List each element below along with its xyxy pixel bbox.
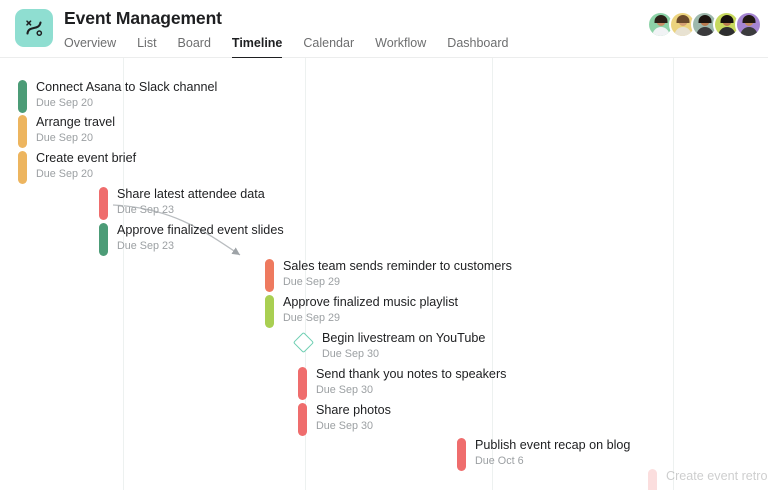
milestone-diamond-icon xyxy=(293,332,314,353)
avatar-body xyxy=(718,27,735,38)
task-text-group: Create event retrospective xyxy=(666,468,768,485)
avatar-body xyxy=(652,27,669,38)
task-text-group: Begin livestream on YouTubeDue Sep 30 xyxy=(322,330,485,362)
task-due-date: Due Oct 6 xyxy=(475,454,630,469)
task-title: Begin livestream on YouTube xyxy=(322,330,485,347)
task-text-group: Share photosDue Sep 30 xyxy=(316,402,391,434)
view-tabs: Overview List Board Timeline Calendar Wo… xyxy=(64,35,508,59)
task-due-date: Due Sep 30 xyxy=(322,347,485,362)
task-due-date: Due Sep 20 xyxy=(36,96,217,111)
task-due-date: Due Sep 23 xyxy=(117,203,265,218)
task-due-date: Due Sep 23 xyxy=(117,239,284,254)
timeline-gridline-1 xyxy=(123,58,124,490)
tab-dashboard[interactable]: Dashboard xyxy=(447,35,508,57)
task-text-group: Publish event recap on blogDue Oct 6 xyxy=(475,437,630,469)
task-due-date: Due Sep 20 xyxy=(36,131,115,146)
task-due-date: Due Sep 29 xyxy=(283,311,458,326)
task-text-group: Create event briefDue Sep 20 xyxy=(36,150,136,182)
timeline-task-bar[interactable]: Approve finalized event slidesDue Sep 23 xyxy=(99,222,284,256)
tab-calendar[interactable]: Calendar xyxy=(303,35,354,57)
task-title: Create event brief xyxy=(36,150,136,167)
task-color-bar xyxy=(99,187,108,220)
member-avatar-list xyxy=(647,11,762,38)
task-title: Sales team sends reminder to customers xyxy=(283,258,512,275)
task-title: Approve finalized music playlist xyxy=(283,294,458,311)
task-color-bar xyxy=(457,438,466,471)
avatar-body xyxy=(674,27,691,38)
task-title: Share photos xyxy=(316,402,391,419)
task-title: Create event retrospective xyxy=(666,468,768,485)
page-title: Event Management xyxy=(64,8,222,29)
avatar-hair xyxy=(720,15,733,23)
task-text-group: Approve finalized music playlistDue Sep … xyxy=(283,294,458,326)
tab-overview[interactable]: Overview xyxy=(64,35,116,57)
timeline-gridline-4 xyxy=(673,58,674,490)
timeline-task-bar[interactable]: Share latest attendee dataDue Sep 23 xyxy=(99,186,265,220)
task-text-group: Connect Asana to Slack channelDue Sep 20 xyxy=(36,79,217,111)
task-title: Approve finalized event slides xyxy=(117,222,284,239)
task-due-date: Due Sep 30 xyxy=(316,419,391,434)
task-color-bar xyxy=(18,80,27,113)
timeline-task-bar[interactable]: Send thank you notes to speakersDue Sep … xyxy=(298,366,506,400)
tab-list[interactable]: List xyxy=(137,35,156,57)
task-title: Connect Asana to Slack channel xyxy=(36,79,217,96)
tab-workflow[interactable]: Workflow xyxy=(375,35,426,57)
timeline-task-bar[interactable]: Sales team sends reminder to customersDu… xyxy=(265,258,512,292)
task-text-group: Arrange travelDue Sep 20 xyxy=(36,114,115,146)
timeline-milestone[interactable]: Begin livestream on YouTubeDue Sep 30 xyxy=(296,330,485,362)
task-color-bar xyxy=(99,223,108,256)
app-header: Event Management Overview List Board Tim… xyxy=(0,0,768,58)
task-title: Arrange travel xyxy=(36,114,115,131)
timeline-task-bar[interactable]: Approve finalized music playlistDue Sep … xyxy=(265,294,458,328)
task-title: Send thank you notes to speakers xyxy=(316,366,506,383)
avatar-body xyxy=(740,27,757,38)
project-logo-icon xyxy=(15,9,53,47)
task-color-bar xyxy=(298,403,307,436)
task-color-bar xyxy=(648,469,657,490)
task-text-group: Approve finalized event slidesDue Sep 23 xyxy=(117,222,284,254)
avatar-hair xyxy=(742,15,755,23)
task-title: Share latest attendee data xyxy=(117,186,265,203)
timeline-canvas[interactable]: Connect Asana to Slack channelDue Sep 20… xyxy=(0,58,768,490)
avatar-hair xyxy=(698,15,711,23)
task-text-group: Send thank you notes to speakersDue Sep … xyxy=(316,366,506,398)
task-title: Publish event recap on blog xyxy=(475,437,630,454)
task-color-bar xyxy=(265,295,274,328)
task-due-date: Due Sep 30 xyxy=(316,383,506,398)
task-text-group: Sales team sends reminder to customersDu… xyxy=(283,258,512,290)
task-text-group: Share latest attendee dataDue Sep 23 xyxy=(117,186,265,218)
timeline-task-bar[interactable]: Arrange travelDue Sep 20 xyxy=(18,114,115,148)
tab-board[interactable]: Board xyxy=(178,35,211,57)
timeline-task-bar[interactable]: Publish event recap on blogDue Oct 6 xyxy=(457,437,630,471)
avatar-hair xyxy=(654,15,667,23)
tab-timeline[interactable]: Timeline xyxy=(232,35,282,59)
task-color-bar xyxy=(18,151,27,184)
member-avatar-5[interactable] xyxy=(735,11,762,38)
timeline-task-bar[interactable]: Create event briefDue Sep 20 xyxy=(18,150,136,184)
timeline-task-bar[interactable]: Connect Asana to Slack channelDue Sep 20 xyxy=(18,79,217,113)
avatar-body xyxy=(696,27,713,38)
timeline-task-bar[interactable]: Create event retrospective xyxy=(648,468,768,490)
task-color-bar xyxy=(18,115,27,148)
task-due-date: Due Sep 20 xyxy=(36,167,136,182)
timeline-task-bar[interactable]: Share photosDue Sep 30 xyxy=(298,402,391,436)
avatar-hair xyxy=(676,15,689,23)
task-color-bar xyxy=(298,367,307,400)
task-due-date: Due Sep 29 xyxy=(283,275,512,290)
task-color-bar xyxy=(265,259,274,292)
